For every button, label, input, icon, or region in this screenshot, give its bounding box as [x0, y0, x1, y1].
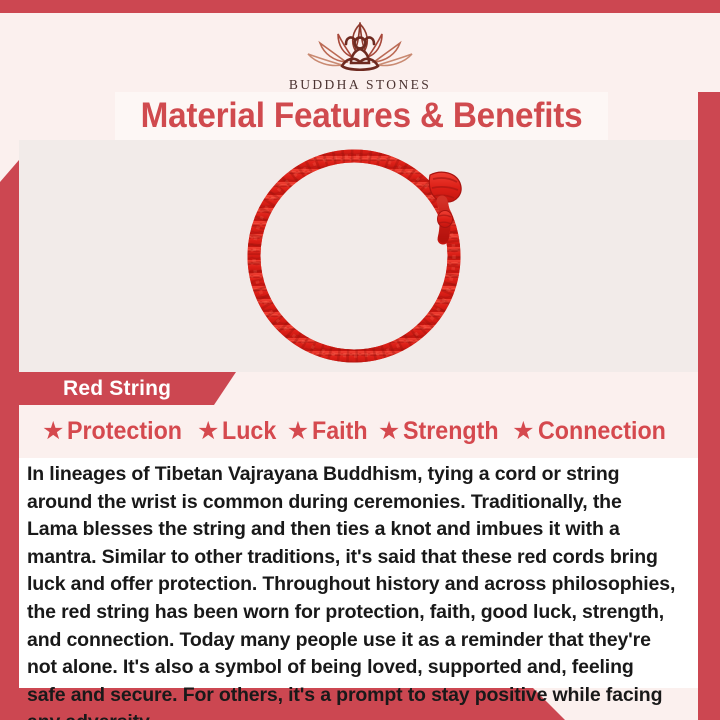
star-icon: ★ — [378, 419, 400, 444]
star-icon: ★ — [512, 419, 534, 444]
page-title: Material Features & Benefits — [141, 96, 583, 136]
description-panel: In lineages of Tibetan Vajrayana Buddhis… — [19, 458, 698, 688]
star-icon: ★ — [287, 419, 309, 444]
brand-name: BUDDHA STONES — [275, 77, 445, 93]
product-name-tab: Red String — [19, 372, 236, 405]
benefit-item: ★ Connection — [512, 417, 675, 446]
benefit-label: Luck — [222, 417, 276, 446]
product-name-label: Red String — [63, 377, 171, 401]
benefit-label: Strength — [403, 417, 499, 446]
lotus-meditation-icon — [302, 18, 418, 76]
benefit-label: Connection — [538, 417, 666, 446]
frame-left-bar — [0, 160, 19, 720]
title-banner: Material Features & Benefits — [115, 92, 608, 140]
red-string-bracelet-image — [234, 143, 484, 369]
benefit-item: ★ Faith — [287, 417, 372, 446]
benefit-item: ★ Strength — [378, 417, 506, 446]
benefits-list: ★ Protection ★ Luck ★ Faith ★ Strength ★… — [19, 405, 698, 458]
product-photo — [19, 140, 698, 372]
benefit-label: Protection — [67, 417, 182, 446]
product-infographic: BUDDHA STONES Material Features & Benefi… — [0, 0, 720, 720]
frame-right-bar — [698, 13, 720, 720]
frame-top-bar — [0, 0, 720, 13]
star-icon: ★ — [197, 419, 219, 444]
description-text: In lineages of Tibetan Vajrayana Buddhis… — [27, 461, 676, 720]
brand-logo: BUDDHA STONES — [275, 18, 445, 93]
benefit-item: ★ Luck — [197, 417, 281, 446]
benefit-label: Faith — [312, 417, 368, 446]
benefit-item: ★ Protection — [42, 417, 191, 446]
star-icon: ★ — [42, 419, 64, 444]
brand-header: BUDDHA STONES — [0, 13, 720, 92]
